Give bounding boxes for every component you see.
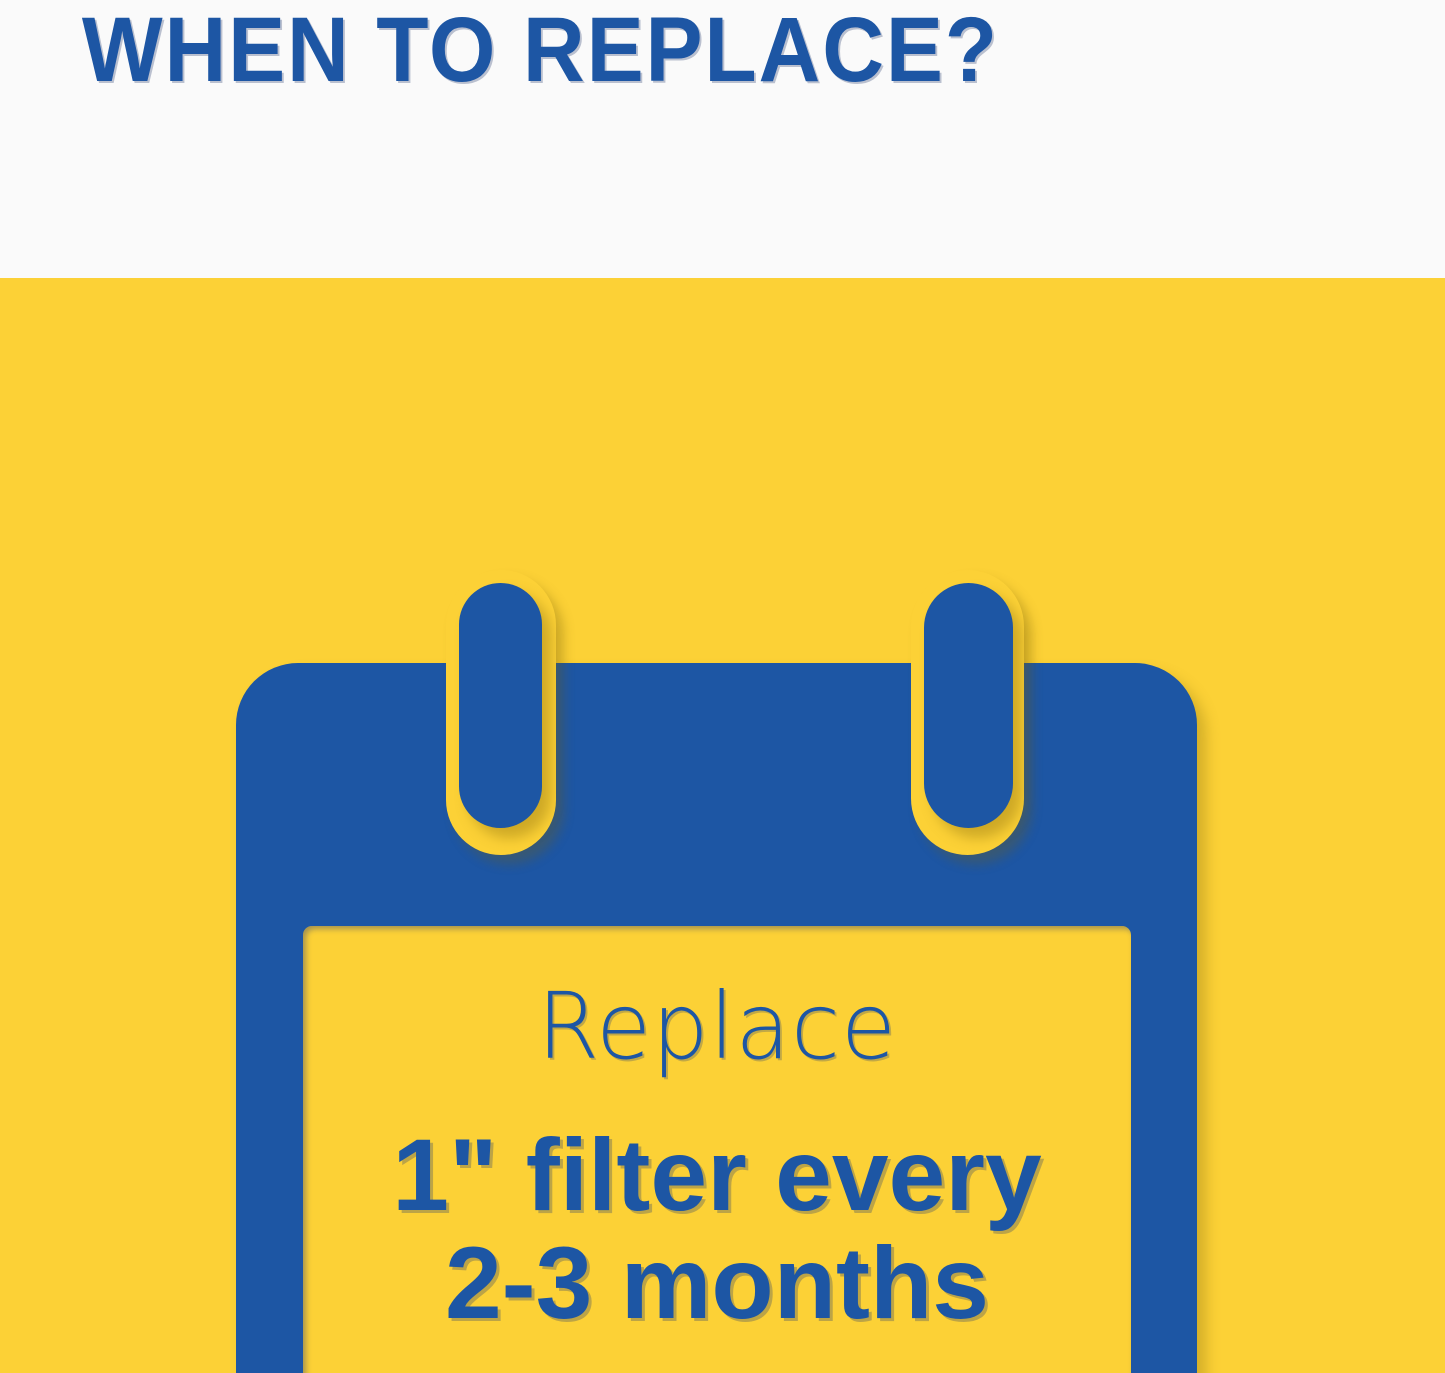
calendar-icon: Replace 1" filter every 2-3 months Every… (236, 663, 1197, 1373)
page-title: WHEN TO REPLACE? (0, 2, 1344, 98)
header-band: WHEN TO REPLACE? (0, 0, 1445, 278)
replace-heading: Replace (315, 981, 1118, 1073)
binder-ring-right (924, 583, 1013, 828)
infographic-canvas: WHEN TO REPLACE? Replace 1" filter every… (0, 0, 1445, 1373)
replace-interval-line-2: 2-3 months (303, 1231, 1131, 1335)
calendar-page: Replace 1" filter every 2-3 months Every… (303, 926, 1131, 1373)
yellow-content-panel: Replace 1" filter every 2-3 months Every… (0, 278, 1445, 1373)
binder-ring-left (459, 583, 542, 828)
peak-months-note: Every 30 days during peak months (307, 1369, 1127, 1373)
replace-interval-line-1: 1" filter every (303, 1123, 1131, 1227)
